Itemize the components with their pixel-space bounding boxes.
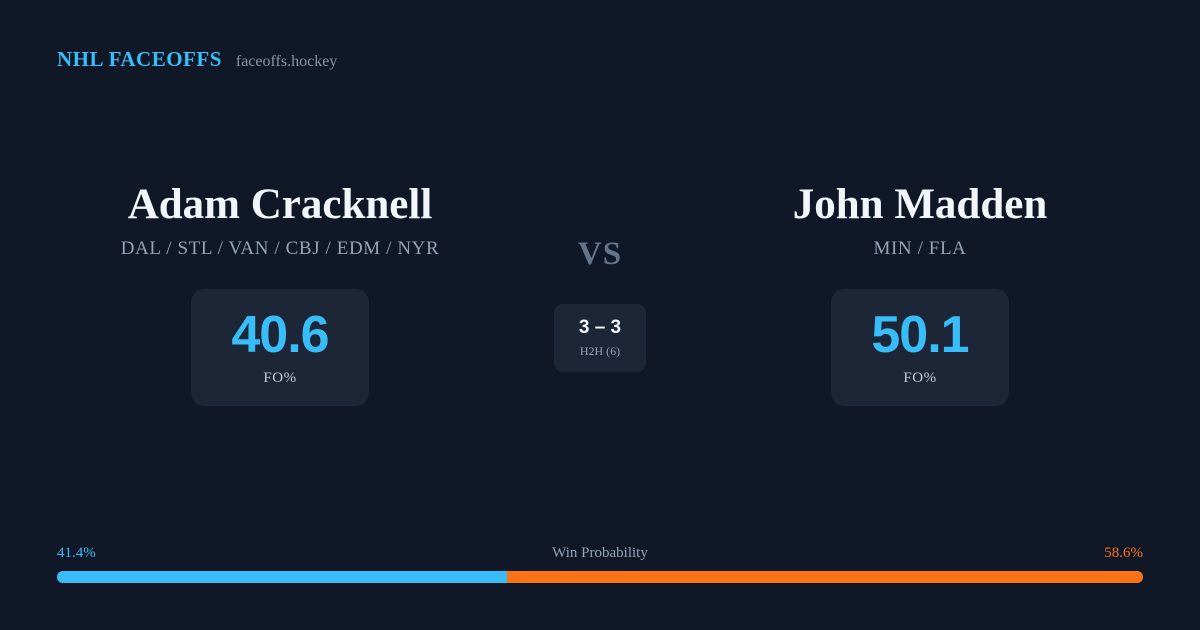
win-probability-bar: [57, 571, 1143, 583]
win-probability-bar-right: [507, 571, 1143, 583]
player-teams-right: MIN / FLA: [680, 238, 1160, 260]
matchup-section: Adam Cracknell DAL / STL / VAN / CBJ / E…: [0, 180, 1200, 406]
player-name-right: John Madden: [680, 180, 1160, 229]
player-card-right: John Madden MIN / FLA 50.1 FO%: [680, 180, 1160, 406]
brand-domain: faceoffs.hockey: [236, 53, 337, 71]
faceoff-stat-card-right: 50.1 FO%: [831, 289, 1009, 406]
faceoff-percentage-right: 50.1: [871, 309, 968, 361]
player-teams-left: DAL / STL / VAN / CBJ / EDM / NYR: [40, 238, 520, 260]
win-probability-labels: 41.4% Win Probability 58.6%: [57, 545, 1143, 562]
win-probability-right-value: 58.6%: [1104, 545, 1143, 562]
win-probability-title: Win Probability: [552, 545, 648, 562]
versus-label: VS: [520, 236, 680, 273]
faceoff-stat-label-right: FO%: [903, 370, 936, 387]
site-header: NHL FACEOFFS faceoffs.hockey: [57, 47, 337, 72]
player-card-left: Adam Cracknell DAL / STL / VAN / CBJ / E…: [40, 180, 520, 406]
win-probability-section: 41.4% Win Probability 58.6%: [57, 545, 1143, 583]
brand-title: NHL FACEOFFS: [57, 47, 222, 72]
win-probability-bar-left: [57, 571, 507, 583]
faceoff-stat-card-left: 40.6 FO%: [191, 289, 369, 406]
head-to-head-record: 3 – 3: [579, 317, 621, 339]
head-to-head-label: H2H (6): [580, 344, 620, 359]
faceoff-stat-label-left: FO%: [263, 370, 296, 387]
versus-column: VS 3 – 3 H2H (6): [520, 180, 680, 372]
head-to-head-badge: 3 – 3 H2H (6): [554, 304, 646, 372]
win-probability-left-value: 41.4%: [57, 545, 96, 562]
faceoff-percentage-left: 40.6: [231, 309, 328, 361]
player-name-left: Adam Cracknell: [40, 180, 520, 229]
